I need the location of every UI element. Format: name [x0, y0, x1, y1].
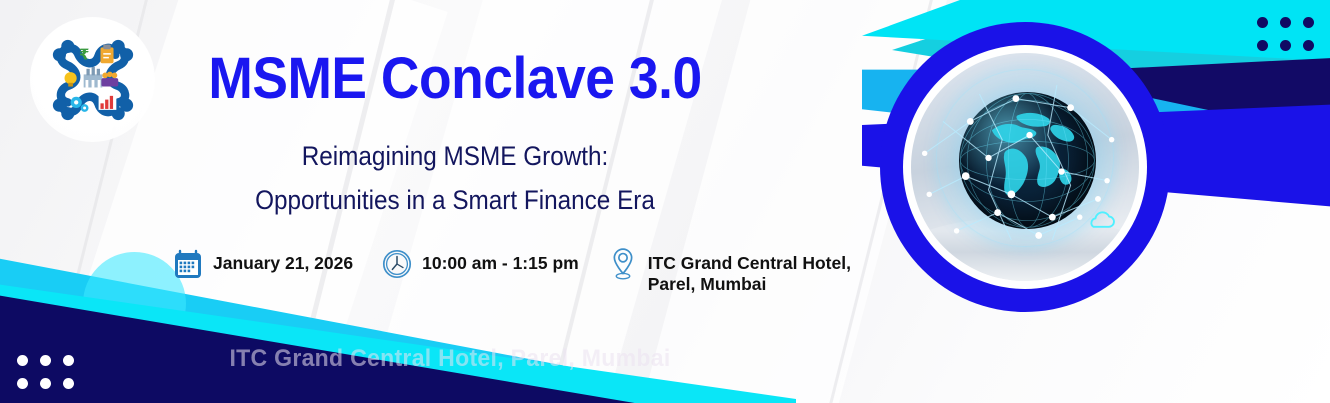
event-time-item: 10:00 am - 1:15 pm [381, 246, 579, 282]
event-date-label: January 21, 2026 [213, 246, 353, 274]
dot [1257, 40, 1268, 51]
globe-network-illustration [911, 53, 1139, 281]
event-details-row: January 21, 2026 10:00 am - 1:15 pm ITC … [172, 246, 851, 295]
page-title: MSME Conclave 3.0 [36, 48, 873, 110]
event-venue-label: ITC Grand Central Hotel, Parel, Mumbai [648, 246, 851, 295]
network-overlay-icon [911, 53, 1139, 281]
cloud-icon [1084, 209, 1118, 231]
dot [1303, 40, 1314, 51]
clock-icon [381, 246, 413, 282]
dot [63, 378, 74, 389]
event-venue-item: ITC Grand Central Hotel, Parel, Mumbai [607, 246, 851, 295]
calendar-icon [172, 246, 204, 282]
digital-globe-medallion [880, 22, 1170, 312]
dot [1280, 40, 1291, 51]
dot [17, 378, 28, 389]
dot-grid-top-right [1257, 17, 1314, 51]
event-banner: ₹ MSME Conclave 3.0 Reimagining MSME Gro… [0, 0, 1330, 403]
dot [1280, 17, 1291, 28]
subtitle-line-2: Opportunities in a Smart Finance Era [46, 177, 865, 223]
dot [1303, 17, 1314, 28]
event-time-label: 10:00 am - 1:15 pm [422, 246, 579, 274]
location-pin-icon [607, 246, 639, 282]
event-date-item: January 21, 2026 [172, 246, 353, 282]
subtitle-line-1: Reimagining MSME Growth: [46, 133, 865, 179]
dot [1257, 17, 1268, 28]
watermark-text: ITC Grand Central Hotel, Parel, Mumbai [18, 345, 882, 373]
dot [40, 378, 51, 389]
